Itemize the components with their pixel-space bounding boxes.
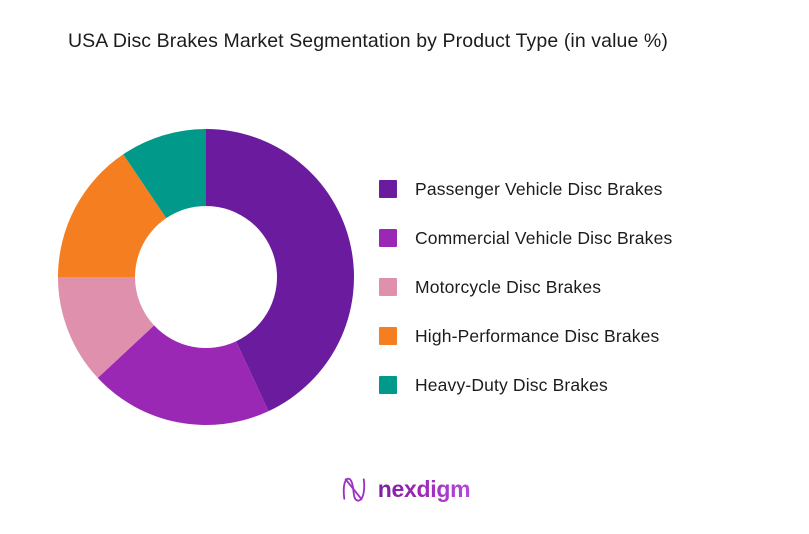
- legend-item-label: Passenger Vehicle Disc Brakes: [415, 178, 663, 200]
- legend-item[interactable]: Passenger Vehicle Disc Brakes: [379, 164, 779, 213]
- legend-swatch-icon: [379, 180, 397, 198]
- legend-item[interactable]: High-Performance Disc Brakes: [379, 311, 779, 360]
- legend-swatch-icon: [379, 327, 397, 345]
- nexdigm-n-logo-icon: [339, 474, 369, 504]
- donut-chart: [55, 126, 357, 428]
- legend-item[interactable]: Heavy-Duty Disc Brakes: [379, 360, 779, 409]
- legend-swatch-icon: [379, 278, 397, 296]
- legend-item-label: Motorcycle Disc Brakes: [415, 276, 601, 298]
- legend-swatch-icon: [379, 376, 397, 394]
- legend-item-label: Commercial Vehicle Disc Brakes: [415, 227, 672, 249]
- brand-name: nexdigm: [378, 476, 470, 503]
- brand-logo: nexdigm: [0, 474, 809, 504]
- legend-item[interactable]: Motorcycle Disc Brakes: [379, 262, 779, 311]
- donut-chart-svg: [55, 126, 357, 428]
- page-title: USA Disc Brakes Market Segmentation by P…: [68, 27, 718, 56]
- legend-swatch-icon: [379, 229, 397, 247]
- legend-item-label: Heavy-Duty Disc Brakes: [415, 374, 608, 396]
- legend-item-label: High-Performance Disc Brakes: [415, 325, 659, 347]
- donut-slice-group: [58, 129, 354, 425]
- chart-legend: Passenger Vehicle Disc BrakesCommercial …: [379, 164, 779, 409]
- legend-item[interactable]: Commercial Vehicle Disc Brakes: [379, 213, 779, 262]
